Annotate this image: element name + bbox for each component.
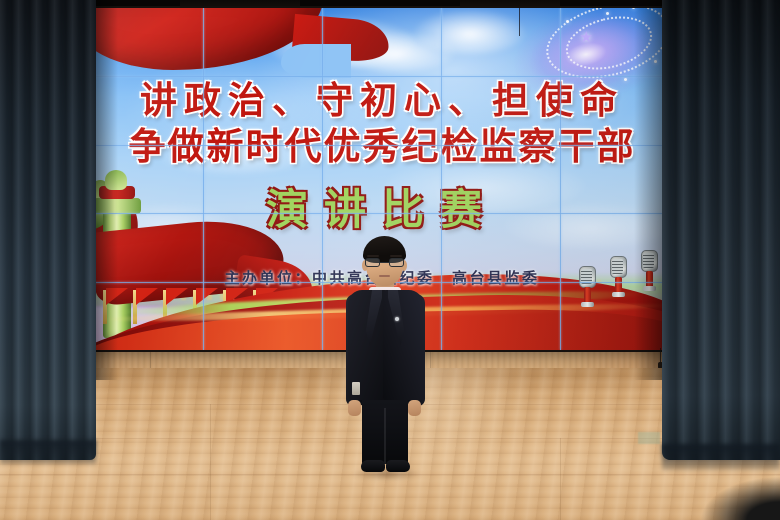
sparkle — [566, 20, 569, 23]
banner-event-title: 演讲比赛 — [85, 176, 679, 237]
stage-photo-scene: ★ — [0, 0, 780, 520]
stage-curtain-left — [0, 0, 96, 460]
foreground-dark-corner — [660, 446, 780, 520]
jacket-tag — [352, 382, 360, 395]
glasses-bridge — [380, 262, 389, 263]
person-left-eyebrow — [367, 255, 379, 257]
person-left-shoe — [361, 460, 385, 472]
led-panel-seam — [441, 8, 442, 350]
led-panel-seam — [322, 8, 323, 350]
mic-base — [581, 302, 594, 307]
lapel-badge-icon — [395, 317, 399, 321]
led-panel-seam — [203, 8, 204, 350]
person-right-hand — [408, 400, 421, 416]
person-jacket-right — [383, 290, 423, 400]
mic-base — [612, 292, 625, 297]
hanging-cable — [519, 8, 520, 36]
led-panel-seam — [85, 145, 679, 146]
person-leg-gap — [384, 408, 386, 464]
led-panel-seam — [560, 8, 561, 350]
stage-curtain-right — [662, 0, 780, 460]
person-left-hand — [348, 400, 361, 416]
banner-title-line-2: 争做新时代优秀纪检监察干部 — [85, 116, 679, 170]
floor-seam — [210, 404, 211, 520]
sparkle — [606, 12, 609, 15]
galaxy-star-icon: ★ — [580, 30, 593, 45]
speaker-person — [336, 232, 434, 480]
person-right-eyebrow — [390, 255, 402, 257]
floor-seam — [560, 438, 561, 520]
eyeglasses-icon — [365, 258, 404, 268]
person-mouth — [379, 275, 390, 277]
curtain-hem-left — [0, 440, 96, 464]
led-panel-seam — [85, 76, 679, 77]
person-right-shoe — [386, 460, 410, 472]
led-panel-seam — [85, 213, 679, 214]
